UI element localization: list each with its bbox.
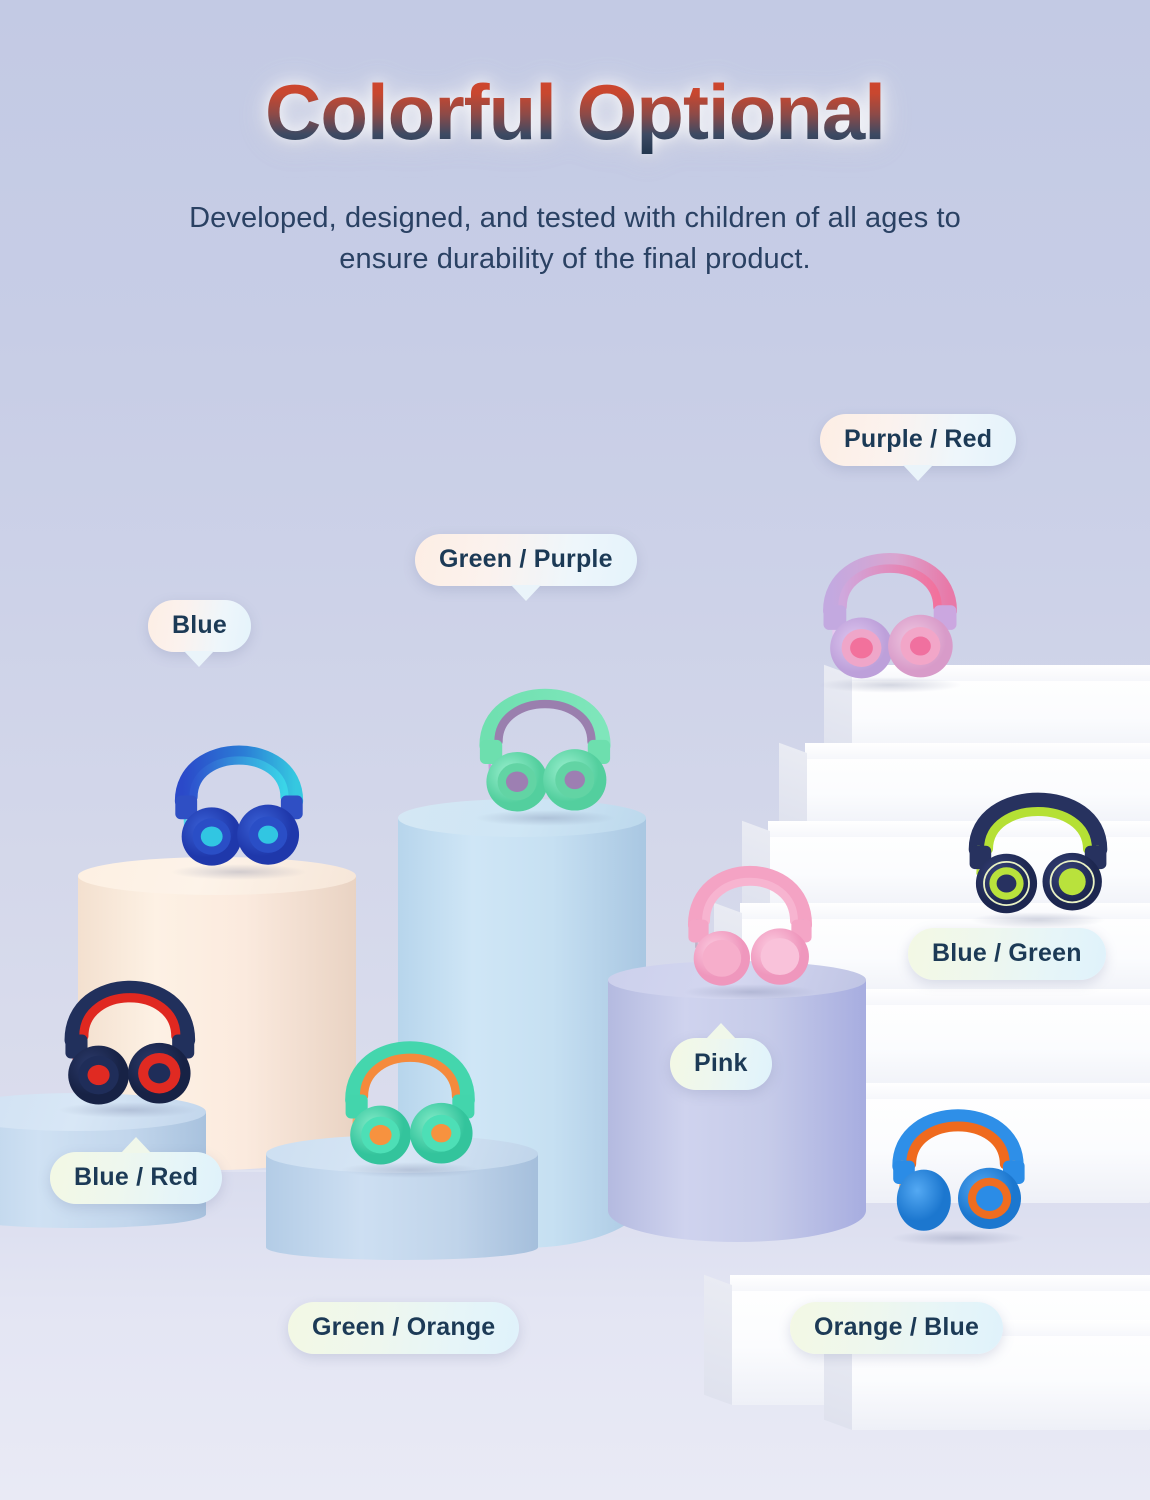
podium-periwinkle-cylinder bbox=[608, 980, 866, 1242]
headphones-blue-green[interactable] bbox=[948, 748, 1128, 920]
headphones-illustration bbox=[36, 926, 220, 1110]
product-shadow bbox=[58, 1102, 198, 1118]
headphones-illustration bbox=[148, 690, 330, 872]
label-text: Blue / Green bbox=[932, 939, 1082, 967]
headphones-illustration bbox=[452, 632, 638, 818]
label-text: Purple / Red bbox=[844, 425, 992, 453]
label-text: Orange / Blue bbox=[814, 1313, 979, 1341]
headphones-green-purple[interactable] bbox=[452, 632, 638, 818]
product-shadow bbox=[970, 912, 1107, 928]
product-label-green-purple[interactable]: Green / Purple bbox=[415, 534, 637, 586]
product-shadow bbox=[340, 1162, 480, 1178]
product-label-purple-red[interactable]: Purple / Red bbox=[820, 414, 1016, 466]
headphones-illustration bbox=[318, 986, 502, 1170]
headphones-blue[interactable] bbox=[148, 690, 330, 872]
page-subtitle: Developed, designed, and tested with chi… bbox=[180, 198, 970, 280]
product-label-blue-green[interactable]: Blue / Green bbox=[908, 928, 1106, 980]
headphones-blue-red[interactable] bbox=[36, 926, 220, 1110]
product-shadow bbox=[818, 677, 962, 693]
product-label-blue-red[interactable]: Blue / Red bbox=[50, 1152, 222, 1204]
headphones-illustration bbox=[948, 748, 1128, 920]
headphones-illustration bbox=[662, 812, 838, 992]
label-text: Green / Orange bbox=[312, 1313, 495, 1341]
headphones-green-orange[interactable] bbox=[318, 986, 502, 1170]
headphones-purple-red[interactable] bbox=[795, 495, 985, 685]
product-label-blue[interactable]: Blue bbox=[148, 600, 251, 652]
label-text: Blue bbox=[172, 611, 227, 639]
headphones-orange-blue[interactable] bbox=[868, 1058, 1048, 1238]
product-label-pink[interactable]: Pink bbox=[670, 1038, 772, 1090]
headline-container: Colorful Optional bbox=[0, 72, 1150, 154]
label-text: Pink bbox=[694, 1049, 748, 1077]
product-shadow bbox=[683, 984, 817, 1000]
headphones-illustration bbox=[795, 495, 985, 685]
product-poster: Colorful Optional Developed, designed, a… bbox=[0, 0, 1150, 1500]
product-shadow bbox=[170, 864, 308, 880]
product-shadow bbox=[474, 810, 615, 826]
product-shadow bbox=[890, 1230, 1027, 1246]
headphones-illustration bbox=[868, 1058, 1048, 1238]
page-title: Colorful Optional bbox=[265, 72, 885, 154]
product-label-green-orange[interactable]: Green / Orange bbox=[288, 1302, 519, 1354]
label-text: Blue / Red bbox=[74, 1163, 198, 1191]
label-text: Green / Purple bbox=[439, 545, 613, 573]
product-label-orange-blue[interactable]: Orange / Blue bbox=[790, 1302, 1003, 1354]
headphones-pink[interactable] bbox=[662, 812, 838, 992]
